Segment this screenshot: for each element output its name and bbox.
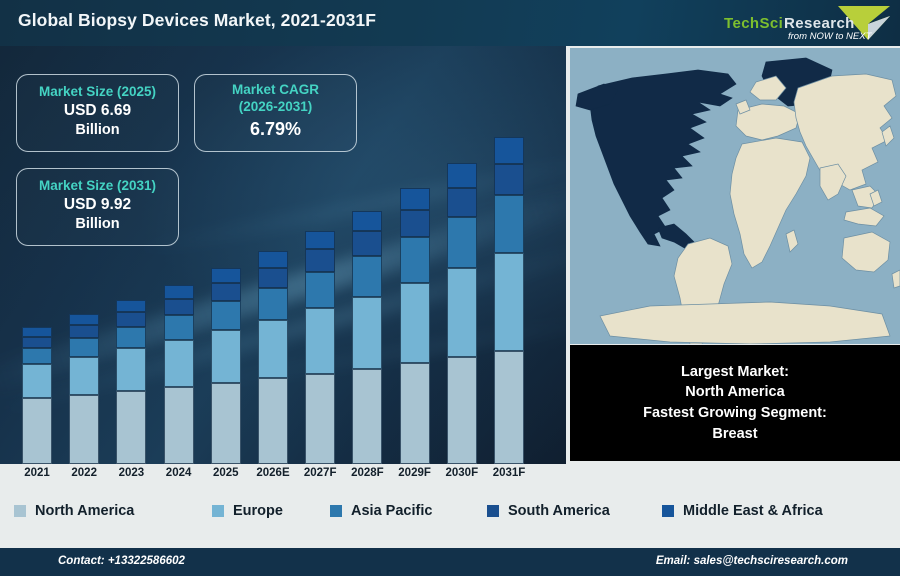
bar-segment-south-america bbox=[69, 325, 99, 338]
bar-segment-asia-pacific bbox=[258, 288, 288, 320]
bar-segment-europe bbox=[164, 340, 194, 388]
bar-segment-asia-pacific bbox=[447, 217, 477, 268]
bar-segment-middle-east-africa bbox=[69, 314, 99, 325]
bar-segment-europe bbox=[305, 308, 335, 373]
x-axis-tick-2025: 2025 bbox=[202, 467, 250, 479]
x-axis-tick-2029F: 2029F bbox=[391, 467, 439, 479]
bar-2022 bbox=[69, 314, 99, 464]
x-axis-tick-2027F: 2027F bbox=[296, 467, 344, 479]
bar-segment-south-america bbox=[352, 231, 382, 255]
bar-segment-europe bbox=[400, 283, 430, 363]
bar-segment-middle-east-africa bbox=[400, 188, 430, 210]
x-axis-tick-2023: 2023 bbox=[107, 467, 155, 479]
legend-swatch bbox=[487, 505, 499, 517]
bar-segment-europe bbox=[22, 364, 52, 398]
legend-label: South America bbox=[508, 503, 610, 519]
largest-market-value: North America bbox=[685, 382, 784, 403]
footer-contact: Contact: +13322586602 bbox=[58, 555, 185, 567]
x-axis: 202120222023202420252026E2027F2028F2029F… bbox=[0, 464, 566, 490]
bar-segment-asia-pacific bbox=[116, 327, 146, 349]
bar-2021 bbox=[22, 327, 52, 464]
bar-segment-north-america bbox=[258, 378, 288, 464]
bar-segment-north-america bbox=[116, 391, 146, 464]
legend-item-middle-east-africa[interactable]: Middle East & Africa bbox=[662, 503, 823, 519]
bar-segment-middle-east-africa bbox=[116, 300, 146, 312]
bar-segment-south-america bbox=[116, 312, 146, 327]
bar-2024 bbox=[164, 285, 194, 464]
legend-label: Middle East & Africa bbox=[683, 503, 823, 519]
bar-segment-north-america bbox=[211, 383, 241, 464]
bar-segment-north-america bbox=[447, 357, 477, 464]
bar-segment-middle-east-africa bbox=[258, 251, 288, 268]
x-axis-tick-2024: 2024 bbox=[155, 467, 203, 479]
x-axis-tick-2026E: 2026E bbox=[249, 467, 297, 479]
bar-segment-asia-pacific bbox=[22, 348, 52, 364]
bar-segment-north-america bbox=[494, 351, 524, 464]
bar-segment-europe bbox=[116, 348, 146, 391]
bar-2028F bbox=[352, 211, 382, 464]
svg-text:TechSci: TechSci bbox=[724, 15, 783, 32]
legend-label: Asia Pacific bbox=[351, 503, 432, 519]
legend-swatch bbox=[330, 505, 342, 517]
x-axis-tick-2021: 2021 bbox=[13, 467, 61, 479]
bar-segment-north-america bbox=[164, 387, 194, 464]
bar-2030F bbox=[447, 163, 477, 464]
header-bar: Global Biopsy Devices Market, 2021-2031F… bbox=[0, 0, 900, 46]
bar-segment-north-america bbox=[69, 395, 99, 464]
market-highlights-callout: Largest Market: North America Fastest Gr… bbox=[570, 345, 900, 461]
bar-segment-middle-east-africa bbox=[305, 231, 335, 249]
bar-segment-europe bbox=[352, 297, 382, 369]
bar-segment-north-america bbox=[305, 374, 335, 464]
bar-segment-south-america bbox=[494, 164, 524, 196]
bar-segment-asia-pacific bbox=[400, 237, 430, 283]
bar-2023 bbox=[116, 300, 146, 464]
x-axis-tick-2022: 2022 bbox=[60, 467, 108, 479]
bar-segment-europe bbox=[258, 320, 288, 378]
bar-segment-middle-east-africa bbox=[494, 137, 524, 164]
x-axis-tick-2030F: 2030F bbox=[438, 467, 486, 479]
bar-segment-south-america bbox=[400, 210, 430, 237]
bar-2029F bbox=[400, 188, 430, 464]
bar-segment-asia-pacific bbox=[305, 272, 335, 309]
bar-segment-europe bbox=[494, 253, 524, 351]
legend-swatch bbox=[212, 505, 224, 517]
footer-email: Email: sales@techsciresearch.com bbox=[656, 555, 848, 567]
bar-segment-middle-east-africa bbox=[164, 285, 194, 299]
bar-segment-asia-pacific bbox=[211, 301, 241, 330]
bar-segment-asia-pacific bbox=[69, 338, 99, 356]
bar-segment-north-america bbox=[22, 398, 52, 464]
bar-segment-europe bbox=[211, 330, 241, 383]
page-title: Global Biopsy Devices Market, 2021-2031F bbox=[18, 10, 376, 31]
legend-item-asia-pacific[interactable]: Asia Pacific bbox=[330, 503, 432, 519]
bar-segment-asia-pacific bbox=[494, 195, 524, 252]
legend-label: North America bbox=[35, 503, 134, 519]
bar-segment-south-america bbox=[258, 268, 288, 288]
techsci-research-logo: TechSci Research from NOW to NEXT bbox=[718, 2, 894, 44]
bar-segment-south-america bbox=[447, 188, 477, 217]
x-axis-tick-2028F: 2028F bbox=[343, 467, 391, 479]
bar-segment-asia-pacific bbox=[352, 256, 382, 297]
bar-2026E bbox=[258, 251, 288, 464]
bar-segment-south-america bbox=[164, 299, 194, 315]
legend-swatch bbox=[14, 505, 26, 517]
bar-segment-europe bbox=[447, 268, 477, 357]
stacked-bar-chart bbox=[0, 46, 566, 464]
bar-segment-north-america bbox=[400, 363, 430, 464]
svg-text:from NOW to NEXT: from NOW to NEXT bbox=[788, 31, 873, 42]
bar-segment-south-america bbox=[211, 283, 241, 301]
largest-market-label: Largest Market: bbox=[681, 362, 789, 383]
bar-segment-europe bbox=[69, 357, 99, 395]
bar-segment-south-america bbox=[305, 249, 335, 271]
legend-item-north-america[interactable]: North America bbox=[14, 503, 134, 519]
bar-segment-middle-east-africa bbox=[22, 327, 52, 337]
fastest-growing-segment-value: Breast bbox=[712, 424, 757, 445]
bar-2031F bbox=[494, 137, 524, 464]
world-map bbox=[570, 48, 900, 344]
chart-legend: North AmericaEuropeAsia PacificSouth Ame… bbox=[0, 490, 900, 532]
bar-segment-south-america bbox=[22, 337, 52, 349]
bar-segment-middle-east-africa bbox=[352, 211, 382, 231]
bar-2027F bbox=[305, 231, 335, 464]
legend-label: Europe bbox=[233, 503, 283, 519]
svg-text:Research: Research bbox=[784, 15, 855, 32]
infographic-page: Global Biopsy Devices Market, 2021-2031F… bbox=[0, 0, 900, 576]
bar-segment-middle-east-africa bbox=[211, 268, 241, 283]
legend-swatch bbox=[662, 505, 674, 517]
legend-item-south-america[interactable]: South America bbox=[487, 503, 610, 519]
bar-2025 bbox=[211, 268, 241, 464]
bar-segment-north-america bbox=[352, 369, 382, 464]
bar-segment-asia-pacific bbox=[164, 315, 194, 340]
bar-segment-middle-east-africa bbox=[447, 163, 477, 187]
x-axis-tick-2031F: 2031F bbox=[485, 467, 533, 479]
fastest-growing-segment-label: Fastest Growing Segment: bbox=[643, 403, 827, 424]
map-region-antarctica bbox=[600, 302, 890, 344]
legend-item-europe[interactable]: Europe bbox=[212, 503, 283, 519]
footer-bar: Contact: +13322586602 Email: sales@techs… bbox=[0, 548, 900, 576]
